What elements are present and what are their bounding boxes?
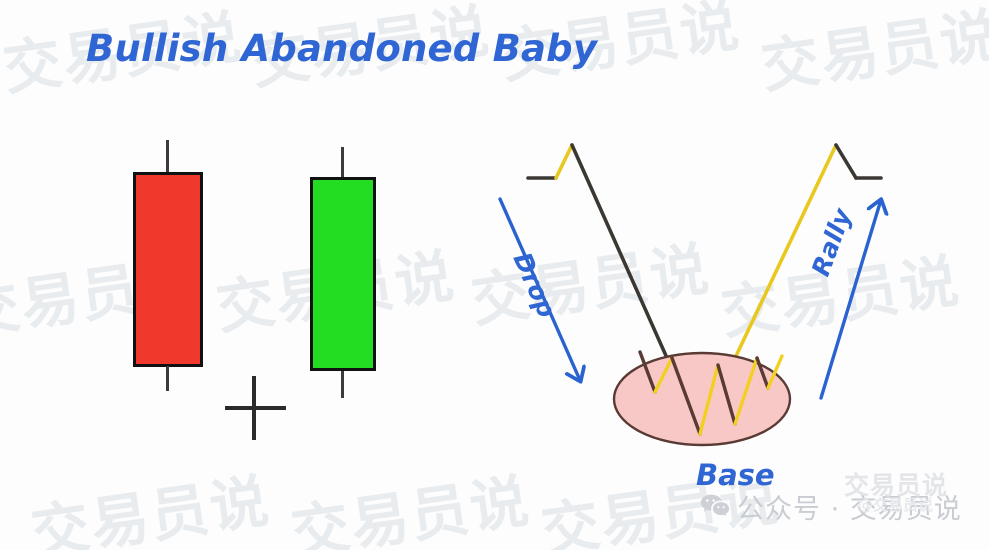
price-segment	[836, 145, 856, 178]
brand-text: 公众号 · 交易员说	[737, 487, 962, 526]
footer-brand: 公众号 · 交易员说	[700, 487, 962, 526]
price-segment	[556, 145, 572, 178]
price-action-diagram	[0, 0, 989, 550]
wechat-icon	[700, 493, 730, 521]
slide-canvas: 交易员说交易员说交易员说交易员说交易员说交易员说交易员说交易员说交易员说交易员说…	[0, 0, 989, 550]
